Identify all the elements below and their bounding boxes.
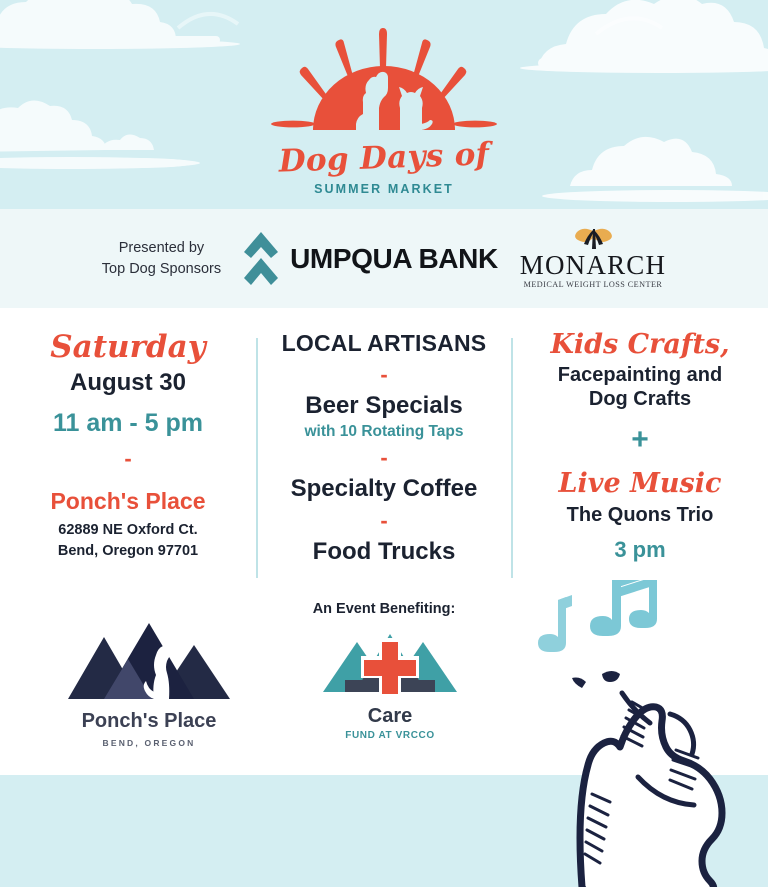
sponsor-monarch[interactable]: MONARCH MEDICAL WEIGHT LOSS CENTER	[520, 228, 666, 289]
umpqua-chevrons-icon	[243, 230, 279, 288]
event-time: 11 am - 5 pm	[10, 408, 246, 438]
separator-dash-2: -	[266, 447, 502, 469]
vendor-item-coffee: Specialty Coffee	[266, 475, 502, 504]
column-activities: Kids Crafts, Facepainting and Dog Crafts…	[512, 330, 768, 617]
kids-crafts-line2: Dog Crafts	[522, 387, 758, 411]
vendor-item-beer-note: with 10 Rotating Taps	[266, 423, 502, 441]
separator-dash-1: -	[266, 364, 502, 386]
vendor-item-beer: Beer Specials	[266, 392, 502, 421]
vendor-item-food-trucks: Food Trucks	[266, 538, 502, 567]
care-fund-name: Care	[315, 705, 465, 728]
mountains-with-dog-icon	[58, 615, 240, 701]
event-logo: Dog Days of SUMMER MARKET	[0, 26, 768, 196]
band-name: The Quons Trio	[522, 503, 758, 527]
monarch-wordmark: MONARCH	[520, 252, 666, 279]
separator-dash-3: -	[266, 510, 502, 532]
separator-dash: -	[10, 448, 246, 470]
info-columns: Saturday August 30 11 am - 5 pm - Ponch'…	[0, 330, 768, 617]
event-date: August 30	[10, 369, 246, 398]
event-poster: Dog Days of SUMMER MARKET Presented by T…	[0, 0, 768, 887]
music-time: 3 pm	[522, 537, 758, 563]
benefiting-label: An Event Benefiting:	[266, 601, 502, 617]
ponchs-place-logo[interactable]: Ponch's Place BEND, OREGON	[58, 615, 240, 748]
plus-separator: +	[522, 425, 758, 455]
mountains-with-red-cross-icon	[315, 620, 465, 698]
event-day: Saturday	[10, 330, 246, 365]
live-music-title: Live Music	[522, 469, 758, 499]
presented-by: Presented by Top Dog Sponsors	[102, 238, 221, 279]
venue-name: Ponch's Place	[10, 488, 246, 515]
column-when-where: Saturday August 30 11 am - 5 pm - Ponch'…	[0, 330, 256, 617]
presented-by-line2: Top Dog Sponsors	[102, 259, 221, 280]
umpqua-bank-wordmark: UMPQUA BANK	[290, 243, 498, 275]
sponsor-band: Presented by Top Dog Sponsors UMPQUA BAN…	[0, 209, 768, 308]
presented-by-line1: Presented by	[102, 238, 221, 259]
column-vendors: LOCAL ARTISANS - Beer Specials with 10 R…	[256, 330, 512, 617]
care-fund-logo[interactable]: Care FUND AT VRCCO	[315, 620, 465, 741]
monarch-tagline: MEDICAL WEIGHT LOSS CENTER	[524, 281, 663, 289]
vendors-heading: LOCAL ARTISANS	[266, 330, 502, 358]
care-fund-sub: FUND AT VRCCO	[315, 730, 465, 741]
butterfly-icon	[566, 228, 620, 252]
kids-crafts-line1: Facepainting and	[522, 363, 758, 387]
kids-crafts-title: Kids Crafts,	[522, 330, 758, 360]
sponsor-umpqua-bank[interactable]: UMPQUA BANK	[243, 230, 498, 288]
venue-address-line1: 62889 NE Oxford Ct.	[10, 520, 246, 541]
music-notes-icon	[528, 580, 668, 680]
ponchs-place-name: Ponch's Place	[58, 710, 240, 733]
ponchs-place-city: BEND, OREGON	[58, 738, 240, 748]
sunrise-dog-cat-icon	[269, 26, 499, 138]
venue-address-line2: Bend, Oregon 97701	[10, 541, 246, 562]
